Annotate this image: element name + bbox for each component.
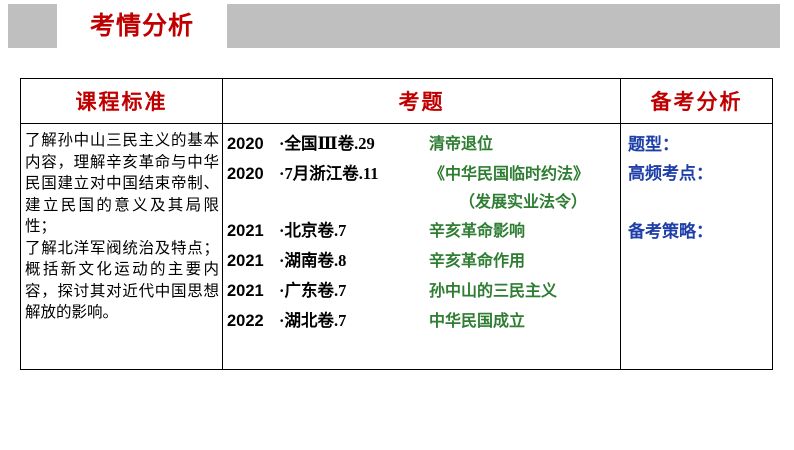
question-paper: ·全国Ⅲ卷.29 (279, 130, 429, 154)
curriculum-standard-text: 了解孙中山三民主义的基本内容，理解辛亥革命与中华民国建立对中国结束帝制、建立民国… (21, 124, 222, 324)
question-year: 2020 (227, 135, 279, 154)
exam-question-row: 2021 ·北京卷.7 辛亥革命影响 (227, 217, 620, 247)
question-topic: 清帝退位 (429, 130, 493, 154)
page-title: 考情分析 (90, 6, 194, 42)
question-topic: 中华民国成立 (429, 307, 525, 331)
column-header-prep-label: 备考分析 (651, 90, 743, 114)
cell-prep-analysis: 题型： 高频考点： 备考策略： (621, 124, 773, 370)
prep-analysis-item-question-type: 题型： (628, 130, 772, 159)
exam-question-row: 2022 ·湖北卷.7 中华民国成立 (227, 307, 620, 337)
exam-question-row: 2021 ·湖南卷.8 辛亥革命作用 (227, 247, 620, 277)
exam-question-row: 2020 ·全国Ⅲ卷.29 清帝退位 (227, 130, 620, 160)
question-year: 2022 (227, 312, 279, 331)
question-topic: 辛亥革命作用 (429, 247, 525, 271)
question-topic: 孙中山的三民主义 (429, 277, 557, 301)
exam-question-subtopic-row: （发展实业法令） (227, 188, 620, 217)
question-topic: 《中华民国临时约法》 (429, 160, 589, 184)
question-year: 2021 (227, 222, 279, 241)
exam-question-row: 2021 ·广东卷.7 孙中山的三民主义 (227, 277, 620, 307)
question-paper: ·湖南卷.8 (279, 247, 429, 271)
question-year: 2020 (227, 165, 279, 184)
curriculum-standard-paragraph-1: 了解孙中山三民主义的基本内容，理解辛亥革命与中华民国建立对中国结束帝制、建立民国… (25, 130, 219, 238)
column-header-questions-label: 考题 (399, 90, 445, 114)
column-header-prep: 备考分析 (621, 79, 773, 124)
question-year: 2021 (227, 252, 279, 271)
column-header-standard: 课程标准 (21, 79, 223, 124)
cell-curriculum-standard: 了解孙中山三民主义的基本内容，理解辛亥革命与中华民国建立对中国结束帝制、建立民国… (21, 124, 223, 370)
table-header-row: 课程标准 考题 备考分析 (21, 79, 773, 124)
cell-exam-questions: 2020 ·全国Ⅲ卷.29 清帝退位 2020 ·7月浙江卷.11 《中华民国临… (223, 124, 621, 370)
exam-analysis-table: 课程标准 考题 备考分析 了解孙中山三民主义的基本内容，理解辛亥革命与中华民国建… (20, 78, 773, 370)
question-subtopic: （发展实业法令） (459, 194, 587, 211)
question-paper: ·湖北卷.7 (279, 307, 429, 331)
column-header-questions: 考题 (223, 79, 621, 124)
header-title-box: 考情分析 (57, 0, 227, 48)
prep-analysis-spacer (628, 188, 772, 217)
prep-analysis-item-strategy: 备考策略： (628, 217, 772, 246)
column-header-standard-label: 课程标准 (76, 90, 168, 114)
prep-analysis-list: 题型： 高频考点： 备考策略： (621, 124, 772, 246)
question-topic: 辛亥革命影响 (429, 217, 525, 241)
exam-question-list: 2020 ·全国Ⅲ卷.29 清帝退位 2020 ·7月浙江卷.11 《中华民国临… (223, 124, 620, 337)
curriculum-standard-paragraph-2: 了解北洋军阀统治及特点；概括新文化运动的主要内容，探讨其对近代中国思想解放的影响… (25, 238, 219, 324)
exam-question-row: 2020 ·7月浙江卷.11 《中华民国临时约法》 (227, 160, 620, 188)
question-paper: ·广东卷.7 (279, 277, 429, 301)
question-paper: ·北京卷.7 (279, 217, 429, 241)
question-paper: ·7月浙江卷.11 (279, 160, 429, 184)
table-body-row: 了解孙中山三民主义的基本内容，理解辛亥革命与中华民国建立对中国结束帝制、建立民国… (21, 124, 773, 370)
question-year: 2021 (227, 282, 279, 301)
prep-analysis-item-high-frequency: 高频考点： (628, 159, 772, 188)
